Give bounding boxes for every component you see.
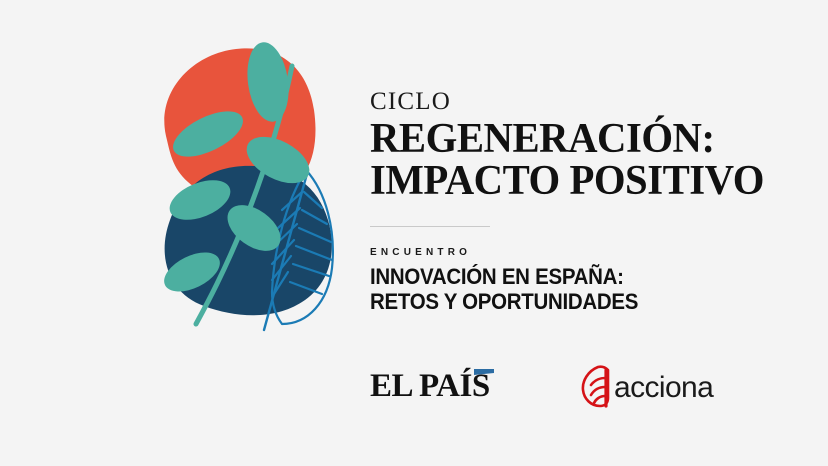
event-poster: CICLO REGENERACIÓN: IMPACTO POSITIVO ENC… <box>0 0 828 466</box>
kicker-text: ENCUENTRO <box>370 247 790 258</box>
acciona-mark-icon <box>583 367 608 406</box>
subtitle-line-2: RETOS Y OPORTUNIDADES <box>370 289 761 314</box>
logo-row: EL PAÍS acciona <box>370 362 770 412</box>
el-pais-wordmark: EL PAÍS <box>370 367 490 404</box>
title-line-1: REGENERACIÓN: <box>370 118 777 160</box>
el-pais-logo: EL PAÍS <box>370 364 515 404</box>
headline-block: CICLO REGENERACIÓN: IMPACTO POSITIVO ENC… <box>370 88 790 314</box>
acciona-logo: acciona <box>578 362 728 410</box>
divider <box>370 226 490 227</box>
eyebrow-text: CICLO <box>370 88 790 116</box>
subtitle-line-1: INNOVACIÓN EN ESPAÑA: <box>370 264 761 289</box>
organic-blobs-leaves-illustration <box>96 24 356 344</box>
title-line-2: IMPACTO POSITIVO <box>370 160 777 202</box>
acciona-wordmark: acciona <box>614 371 714 404</box>
